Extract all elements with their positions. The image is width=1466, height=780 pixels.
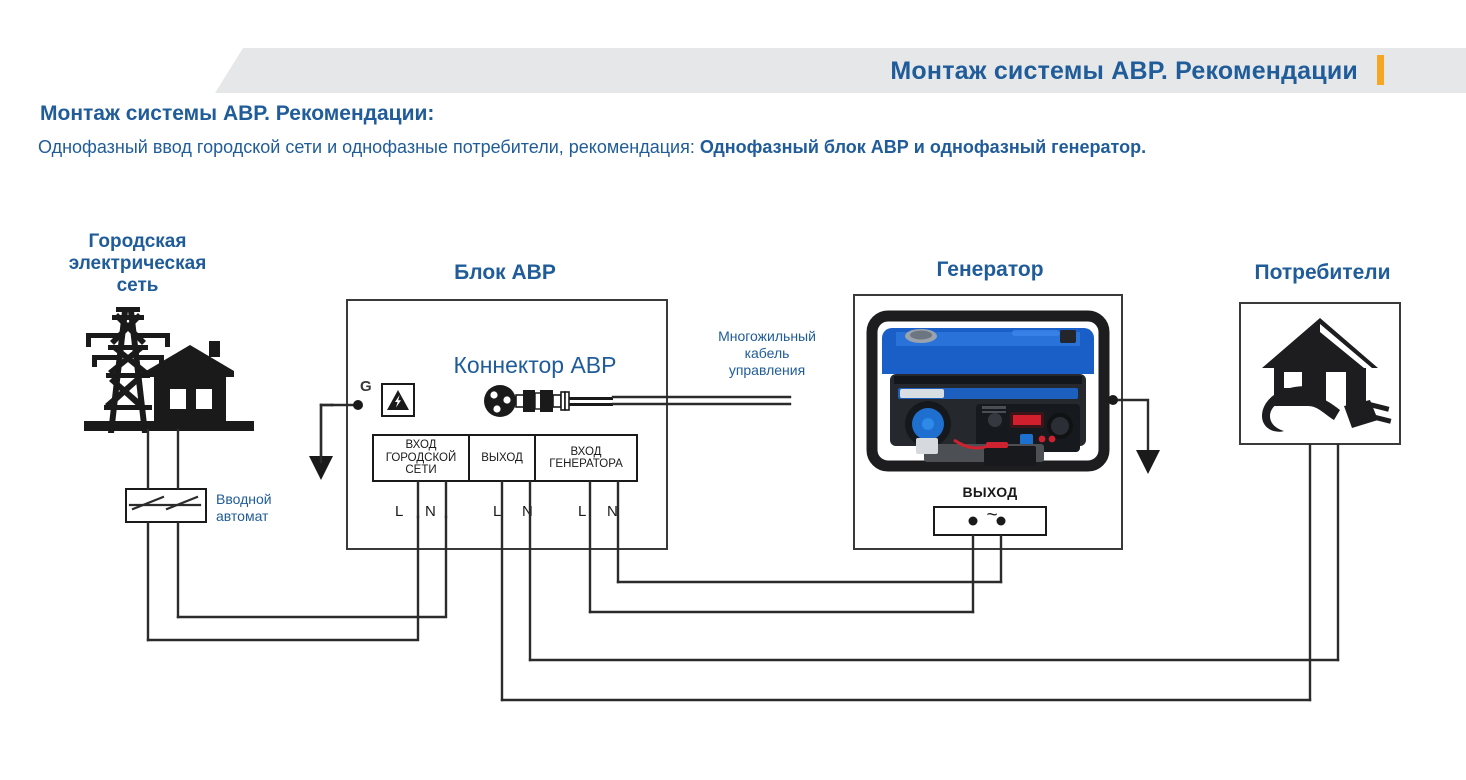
terminal-mains-input: ВХОД ГОРОДСКОЙ СЕТИ xyxy=(372,434,470,482)
section-caption-generator: Генератор xyxy=(880,259,1100,281)
grid-caption-line1: Городская xyxy=(20,231,255,253)
power-pylon-house-icon xyxy=(78,305,258,460)
high-voltage-warning-icon xyxy=(381,383,415,417)
section-caption-ats: Блок АВР xyxy=(400,262,610,284)
ln-label-mains-l: L xyxy=(395,503,403,520)
section-caption-grid: Городская электрическая сеть xyxy=(20,231,255,297)
ln-label-gen-l: L xyxy=(578,503,586,520)
terminal-mains-line1: ВХОД xyxy=(386,439,457,452)
terminal-gen-line1: ВХОД xyxy=(549,446,623,459)
ln-label-gen-n: N xyxy=(607,503,618,520)
page-title: Монтаж системы АВР. Рекомендации: xyxy=(40,102,434,126)
breaker-label-line1: Вводной xyxy=(216,491,326,508)
terminal-mains-line2: ГОРОДСКОЙ xyxy=(386,452,457,465)
cable-label-line1: Многожильный xyxy=(672,328,862,345)
cable-label-line2: кабель xyxy=(672,345,862,362)
ln-label-output-n: N xyxy=(522,503,533,520)
generator-output-socket: ~ xyxy=(933,506,1047,536)
terminal-generator-input: ВХОД ГЕНЕРАТОРА xyxy=(534,434,638,482)
generator-photo-icon xyxy=(864,306,1112,482)
ac-symbol: ~ xyxy=(935,506,1049,525)
generator-output-label: ВЫХОД xyxy=(905,484,1075,500)
ground-terminal-label: G xyxy=(360,378,372,395)
input-breaker-symbol xyxy=(125,488,207,523)
subtitle-emphasis: Однофазный блок АВР и однофазный генерат… xyxy=(700,137,1146,157)
section-caption-consumers: Потребители xyxy=(1215,262,1430,284)
control-cable-label: Многожильный кабель управления xyxy=(672,328,862,379)
terminal-output: ВЫХОД xyxy=(468,434,536,482)
grid-caption-line2: электрическая xyxy=(20,253,255,275)
header-accent-bar xyxy=(1377,55,1384,85)
terminal-gen-line2: ГЕНЕРАТОРА xyxy=(549,458,623,471)
grid-caption-line3: сеть xyxy=(20,275,255,297)
house-with-plug-icon xyxy=(1248,310,1392,436)
ln-label-output-l: L xyxy=(493,503,501,520)
header-title: Монтаж системы АВР. Рекомендации xyxy=(890,57,1358,86)
diagram-canvas: Монтаж системы АВР. Рекомендации Монтаж … xyxy=(0,0,1466,780)
terminal-output-line1: ВЫХОД xyxy=(481,452,523,465)
ln-label-mains-n: N xyxy=(425,503,436,520)
ats-terminal-row: ВХОД ГОРОДСКОЙ СЕТИ ВЫХОД ВХОД ГЕНЕРАТОР… xyxy=(372,434,640,482)
ats-multipin-connector-icon xyxy=(483,381,613,421)
terminal-mains-line3: СЕТИ xyxy=(386,464,457,477)
input-breaker-label: Вводной автомат xyxy=(216,491,326,525)
breaker-label-line2: автомат xyxy=(216,508,326,525)
subtitle-plain: Однофазный ввод городской сети и однофаз… xyxy=(38,137,700,157)
page-subtitle: Однофазный ввод городской сети и однофаз… xyxy=(38,133,1368,161)
wire-ground-path xyxy=(321,405,332,462)
ats-connector-label: Коннектор АВР xyxy=(410,352,660,379)
cable-label-line3: управления xyxy=(672,362,862,379)
